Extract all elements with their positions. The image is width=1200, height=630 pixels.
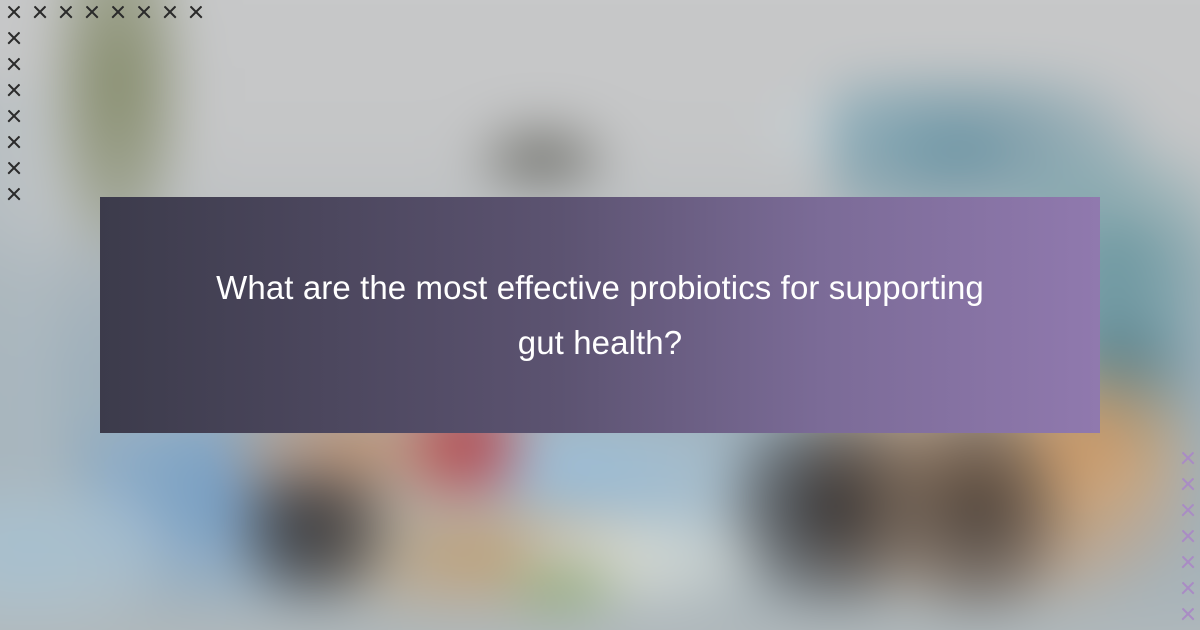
photo-green-accent [499,559,626,623]
social-card: What are the most effective probiotics f… [0,0,1200,630]
photo-dark-hair-a [234,469,393,607]
photo-blue-fabric-c [0,490,165,628]
photo-dark-upper-blob [473,117,611,191]
headline-banner: What are the most effective probiotics f… [100,197,1100,433]
page-title: What are the most effective probiotics f… [100,260,1100,371]
photo-dark-shadow-c [907,405,1066,617]
